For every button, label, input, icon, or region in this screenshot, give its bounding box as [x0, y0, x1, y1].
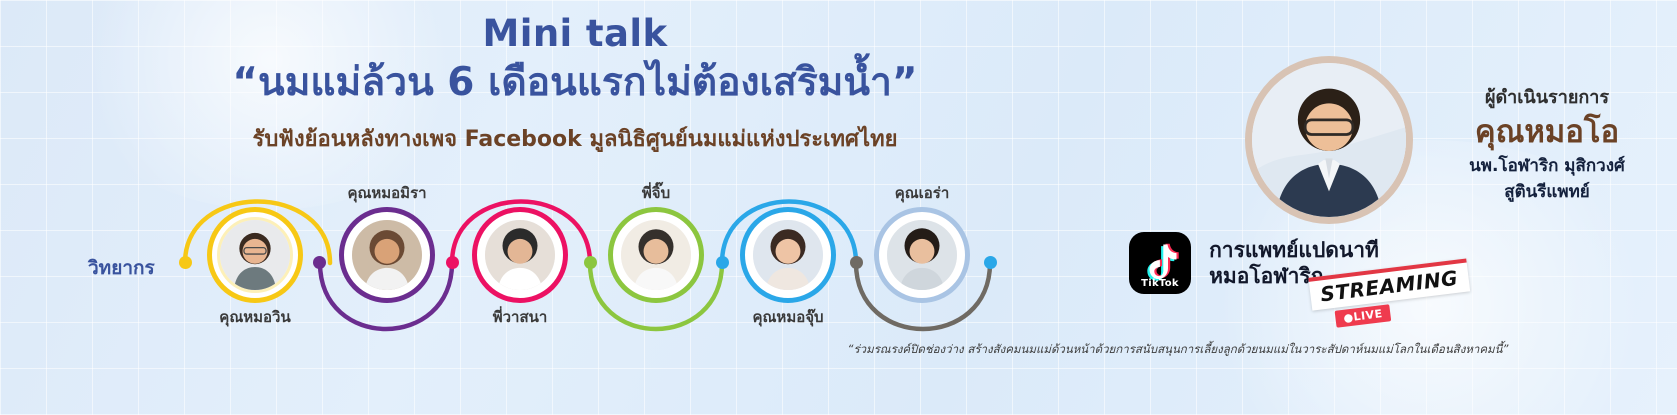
- headline-block: Mini talk “นมแม่ล้วน 6 เดือนแรกไม่ต้องเส…: [0, 14, 1150, 156]
- live-badge: ●LIVE: [1335, 304, 1392, 328]
- speaker-avatar-5: [750, 217, 826, 293]
- speaker-avatar-ring-1: [207, 207, 303, 303]
- host-full-name: นพ.โอฬาริก มุสิกวงศ์: [1422, 155, 1672, 178]
- avatar-photo-icon-4: [621, 220, 691, 290]
- speaker-avatar-3: [482, 217, 558, 293]
- speaker-card-2[interactable]: คุณหมอมิรา: [339, 207, 435, 303]
- connector-dot-7: [984, 256, 997, 269]
- speaker-card-5[interactable]: คุณหมอจุ๊บ: [740, 207, 836, 303]
- host-photo-icon: [1252, 63, 1406, 217]
- host-name: คุณหมอโอ: [1422, 113, 1672, 152]
- tiktok-channel-line2: หมอโอฬาริก: [1209, 264, 1323, 288]
- avatar-photo-icon-3: [485, 220, 555, 290]
- banner-root: Mini talk “นมแม่ล้วน 6 เดือนแรกไม่ต้องเส…: [0, 0, 1677, 415]
- avatar-photo-icon-1: [220, 220, 290, 290]
- host-role-label: ผู้ดำเนินรายการ: [1422, 82, 1672, 111]
- speaker-name-3: พี่วาสนา: [493, 305, 548, 329]
- connector-dot-5: [716, 256, 729, 269]
- speaker-avatar-6: [884, 217, 960, 293]
- connector-dot-1: [179, 256, 192, 269]
- speaker-avatar-2: [349, 217, 425, 293]
- connector-dot-3: [446, 256, 459, 269]
- speaker-name-4: พี่จิ๊บ: [642, 181, 670, 205]
- speaker-name-6: คุณเอร่า: [895, 181, 950, 205]
- speaker-name-1: คุณหมอวิน: [219, 305, 290, 329]
- speaker-avatar-ring-4: [608, 207, 704, 303]
- speaker-avatar-ring-3: [472, 207, 568, 303]
- speaker-card-4[interactable]: พี่จิ๊บ: [608, 207, 704, 303]
- speaker-name-5: คุณหมอจุ๊บ: [752, 305, 823, 329]
- tiktok-label: TikTok: [1129, 278, 1191, 289]
- avatar-photo-icon-2: [352, 220, 422, 290]
- facebook-replay-line: รับฟังย้อนหลังทางเพจ Facebook มูลนิธิศูน…: [0, 121, 1150, 156]
- speaker-avatar-1: [217, 217, 293, 293]
- avatar-photo-icon-5: [753, 220, 823, 290]
- host-info: ผู้ดำเนินรายการ คุณหมอโอ นพ.โอฬาริก มุสิ…: [1422, 82, 1672, 204]
- tiktok-icon[interactable]: TikTok: [1129, 232, 1191, 294]
- host-specialty: สูตินรีแพทย์: [1422, 181, 1672, 204]
- connector-dot-4: [584, 256, 597, 269]
- speaker-avatar-ring-6: [874, 207, 970, 303]
- speaker-card-1[interactable]: คุณหมอวิน: [207, 207, 303, 303]
- tiktok-channel-line1: การแพทย์แปดนาที: [1209, 238, 1379, 262]
- speaker-avatar-ring-5: [740, 207, 836, 303]
- speakers-section: วิทยากร: [0, 175, 1110, 350]
- speaker-name-2: คุณหมอมิรา: [347, 181, 426, 205]
- speaker-avatar-ring-2: [339, 207, 435, 303]
- avatar-photo-icon-6: [887, 220, 957, 290]
- speaker-card-3[interactable]: พี่วาสนา: [472, 207, 568, 303]
- host-avatar: [1245, 56, 1413, 224]
- speaker-avatar-4: [618, 217, 694, 293]
- connector-dot-6: [850, 256, 863, 269]
- page-title: Mini talk: [0, 14, 1150, 55]
- connector-dot-2: [313, 256, 326, 269]
- speaker-card-6[interactable]: คุณเอร่า: [874, 207, 970, 303]
- talk-topic-title: “นมแม่ล้วน 6 เดือนแรกไม่ต้องเสริมน้ำ”: [0, 59, 1150, 108]
- footer-disclaimer: “ร่วมรณรงค์ปิดช่องว่าง สร้างสังคมนมแม่ด้…: [838, 341, 1518, 359]
